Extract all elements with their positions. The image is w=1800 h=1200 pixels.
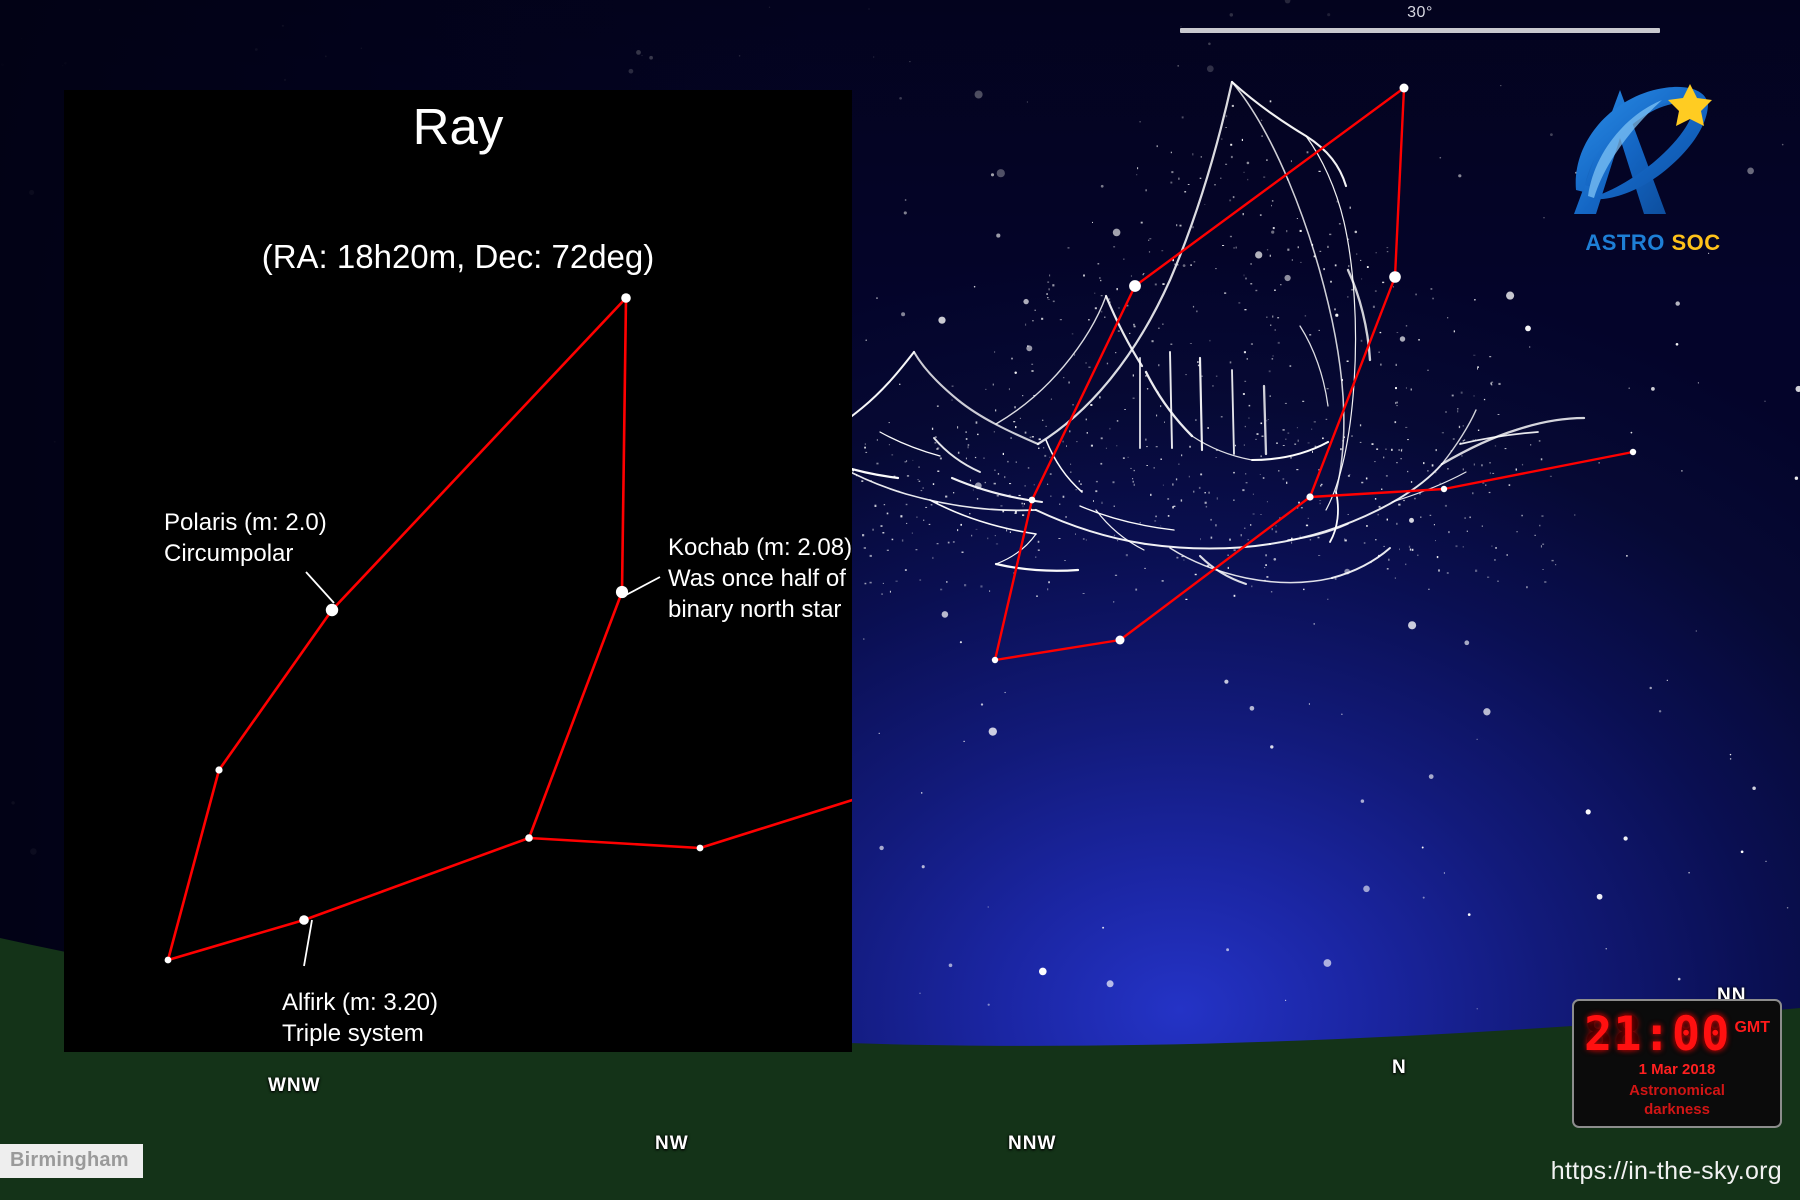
svg-text:Polaris (m: 2.0): Polaris (m: 2.0)	[164, 509, 327, 536]
clock-widget: 88:8821:00 GMT 1 Mar 2018 Astronomical d…	[1572, 999, 1782, 1128]
sky-chart-canvas: 30° WNW NW NNW N NN Birmingham https://i…	[0, 0, 1800, 1200]
logo-text-soc: SOC	[1671, 230, 1720, 255]
svg-text:binary north star: binary north star	[668, 596, 841, 623]
clock-time: 88:8821:00	[1584, 1007, 1730, 1062]
logo-wordmark: ASTRO SOC	[1558, 230, 1748, 256]
scale-bar-label: 30°	[1180, 4, 1660, 22]
inset-diagram: Polaris (m: 2.0)CircumpolarKochab (m: 2.…	[64, 90, 852, 1052]
clock-date: 1 Mar 2018	[1574, 1061, 1780, 1078]
scale-bar	[1180, 28, 1660, 33]
source-url[interactable]: https://in-the-sky.org	[1551, 1157, 1782, 1186]
svg-text:Kochab (m: 2.08): Kochab (m: 2.08)	[668, 534, 852, 561]
compass-label-wnw: WNW	[268, 1075, 321, 1097]
compass-label-n: N	[1392, 1057, 1407, 1079]
svg-text:Was once half of a: Was once half of a	[668, 565, 852, 592]
astro-soc-logo: ASTRO SOC	[1558, 72, 1748, 252]
clock-condition-line2: darkness	[1644, 1101, 1710, 1118]
logo-text-astro: ASTRO	[1585, 230, 1665, 255]
logo-mark-icon	[1558, 72, 1748, 232]
clock-timezone: GMT	[1734, 1019, 1770, 1037]
svg-text:Circumpolar: Circumpolar	[164, 540, 293, 567]
compass-label-nw: NW	[655, 1133, 689, 1155]
clock-condition-line1: Astronomical	[1629, 1082, 1725, 1099]
clock-condition: Astronomical darkness	[1574, 1081, 1780, 1119]
compass-label-nnw: NNW	[1008, 1133, 1056, 1155]
constellation-inset-panel: Ray (RA: 18h20m, Dec: 72deg) Polaris (m:…	[64, 90, 852, 1052]
svg-text:Triple system: Triple system	[282, 1020, 424, 1047]
location-badge: Birmingham	[0, 1144, 143, 1178]
svg-text:Alfirk (m: 3.20): Alfirk (m: 3.20)	[282, 989, 438, 1016]
